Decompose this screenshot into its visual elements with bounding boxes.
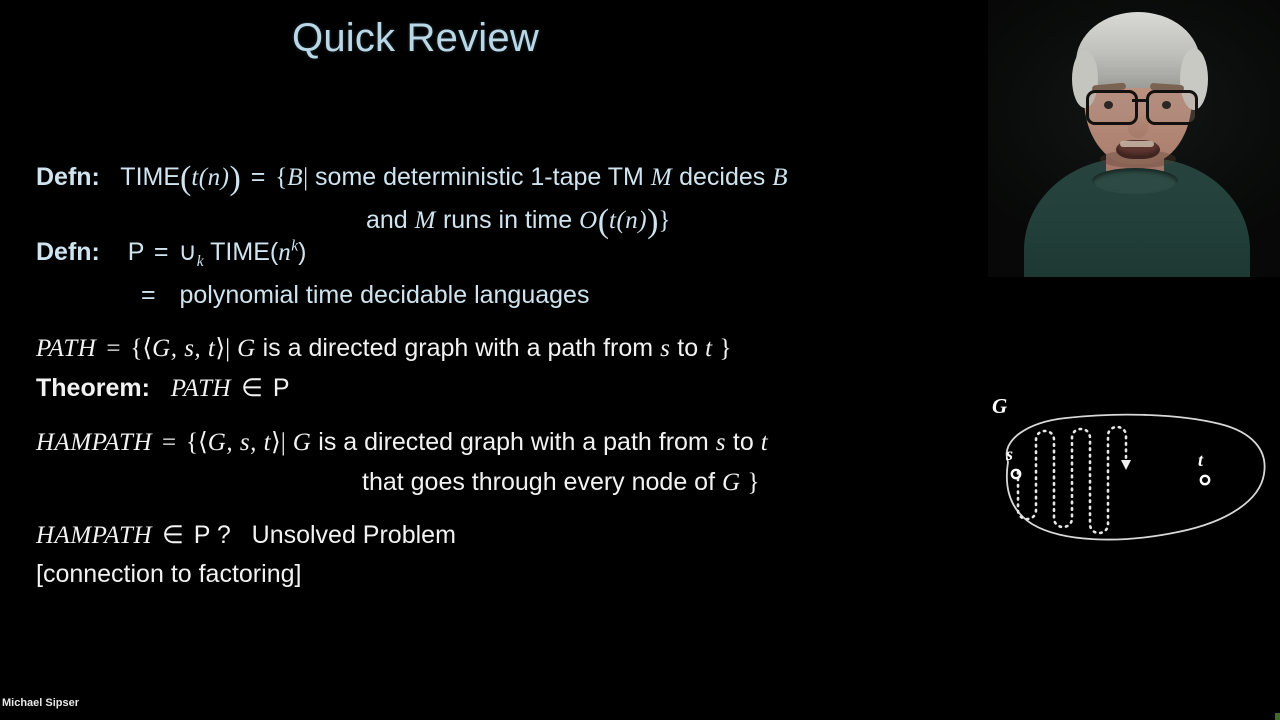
definition-time-line1: Defn: TIME(t(n)) = {B| some deterministi…	[36, 158, 788, 192]
hampath-definition-line1: HAMPATH = {⟨G, s, t⟩| G is a directed gr…	[36, 430, 768, 455]
question-mark: ?	[217, 521, 231, 549]
graph-figure: G s t	[970, 392, 1270, 557]
node-t	[1201, 476, 1209, 484]
path-bar: |	[225, 335, 230, 362]
hamiltonian-path-trace	[1018, 427, 1126, 533]
class-P-1: P	[128, 238, 144, 266]
open-brace-1: {	[275, 164, 287, 191]
defn1-line2-text-a: and	[366, 206, 408, 234]
union-subscript: k	[197, 253, 204, 270]
hampath-line2-var-G: G	[722, 469, 741, 496]
time-name-2: TIME(	[210, 238, 278, 266]
equals-sign-4: =	[103, 335, 123, 362]
figure-label-G: G	[992, 394, 1007, 419]
var-B-2: B	[772, 164, 788, 191]
glasses-bridge	[1132, 99, 1148, 102]
path-close-angle: ⟩	[215, 335, 225, 362]
big-o-symbol: O	[579, 207, 598, 234]
unsolved-status: Unsolved Problem	[252, 521, 456, 549]
path-text-a: is a directed graph with a path from	[263, 334, 653, 362]
path-definition: PATH = {⟨G, s, t⟩| G is a directed graph…	[36, 336, 731, 361]
path-var-s: s	[660, 335, 670, 362]
path-name: PATH	[36, 335, 96, 362]
path-var-G: G	[237, 335, 256, 362]
defn-label-1: Defn:	[36, 163, 100, 191]
defn1-text-b: decides	[679, 163, 765, 191]
path-open-bracket: {⟨	[130, 335, 152, 362]
glasses-icon	[1084, 90, 1196, 120]
open-question-line: HAMPATH ∈ P ? Unsolved Problem	[36, 523, 456, 548]
path-arrowhead	[1121, 460, 1131, 470]
definition-time-line2: and M runs in time O(t(n))}	[366, 201, 670, 235]
factoring-note: [connection to factoring]	[36, 562, 301, 587]
member-symbol-2: ∈	[159, 521, 187, 549]
hampath-line2-text: that goes through every node of	[362, 468, 715, 496]
presenter-name-caption: Michael Sipser	[2, 697, 79, 709]
theorem-path-name: PATH	[171, 375, 231, 402]
set-bar-1: |	[303, 164, 308, 191]
open-question-name: HAMPATH	[36, 522, 152, 549]
theorem-label: Theorem:	[36, 374, 150, 402]
figure-label-s: s	[1006, 444, 1013, 465]
polynomial-time-text: polynomial time decidable languages	[179, 281, 589, 309]
equals-sign-5: =	[159, 429, 179, 456]
open-question-class-P: P	[194, 521, 210, 549]
equals-sign-1: =	[248, 163, 269, 191]
hampath-var-G: G	[293, 429, 312, 456]
theorem-class-P: P	[273, 374, 290, 402]
var-M-2: M	[415, 207, 436, 234]
path-var-t: t	[705, 335, 712, 362]
hampath-var-s: s	[716, 429, 726, 456]
hampath-line2-close-brace: }	[748, 469, 760, 496]
hampath-open-bracket: {⟨	[186, 429, 208, 456]
close-paren-1: )	[298, 238, 306, 266]
hampath-close-angle: ⟩	[271, 429, 281, 456]
glasses-lens-right	[1146, 90, 1198, 125]
defn1-text-a: some deterministic 1-tape TM	[315, 163, 644, 191]
var-n-1: n	[278, 239, 291, 266]
member-symbol-1: ∈	[238, 374, 266, 402]
var-M-1: M	[651, 164, 672, 191]
page-title: Quick Review	[292, 16, 539, 61]
theorem-statement: Theorem: PATH ∈ P	[36, 376, 290, 401]
graph-figure-svg	[970, 392, 1270, 557]
hampath-bar: |	[281, 429, 286, 456]
presenter-eye-left	[1104, 101, 1113, 109]
big-o-arg: t(n)	[609, 207, 647, 234]
corner-artifact	[1275, 713, 1280, 720]
slide-canvas: Quick Review Defn: TIME(t(n)) = {B| some…	[0, 0, 1280, 720]
hampath-to-word: to	[733, 428, 754, 456]
equals-sign-2: =	[151, 238, 172, 266]
hampath-text-a: is a directed graph with a path from	[318, 428, 708, 456]
time-name: TIME	[120, 163, 180, 191]
defn-label-2: Defn:	[36, 238, 100, 266]
time-arg: t(n)	[191, 164, 229, 191]
path-close-brace: }	[719, 335, 731, 362]
hampath-definition-line2: that goes through every node of G }	[362, 470, 760, 495]
path-tuple: G, s, t	[152, 335, 215, 362]
presenter-webcam-video[interactable]	[988, 0, 1280, 277]
presenter-eye-right	[1162, 101, 1171, 109]
var-B-1: B	[287, 164, 303, 191]
figure-label-t: t	[1198, 450, 1203, 471]
equals-sign-3: =	[138, 281, 159, 309]
presenter-collar	[1092, 168, 1178, 194]
defn1-line2-text-b: runs in time	[443, 206, 572, 234]
definition-p-line2: = polynomial time decidable languages	[138, 283, 589, 308]
path-to-word: to	[677, 334, 698, 362]
presenter-teeth	[1120, 141, 1154, 147]
definition-p-line1: Defn: P = ∪k TIME(nk)	[36, 240, 306, 265]
union-symbol: ∪	[178, 238, 196, 266]
hampath-name: HAMPATH	[36, 429, 152, 456]
hampath-var-t: t	[761, 429, 768, 456]
hampath-tuple: G, s, t	[208, 429, 271, 456]
close-brace-1: }	[658, 207, 670, 234]
graph-blob-outline	[1007, 415, 1265, 540]
